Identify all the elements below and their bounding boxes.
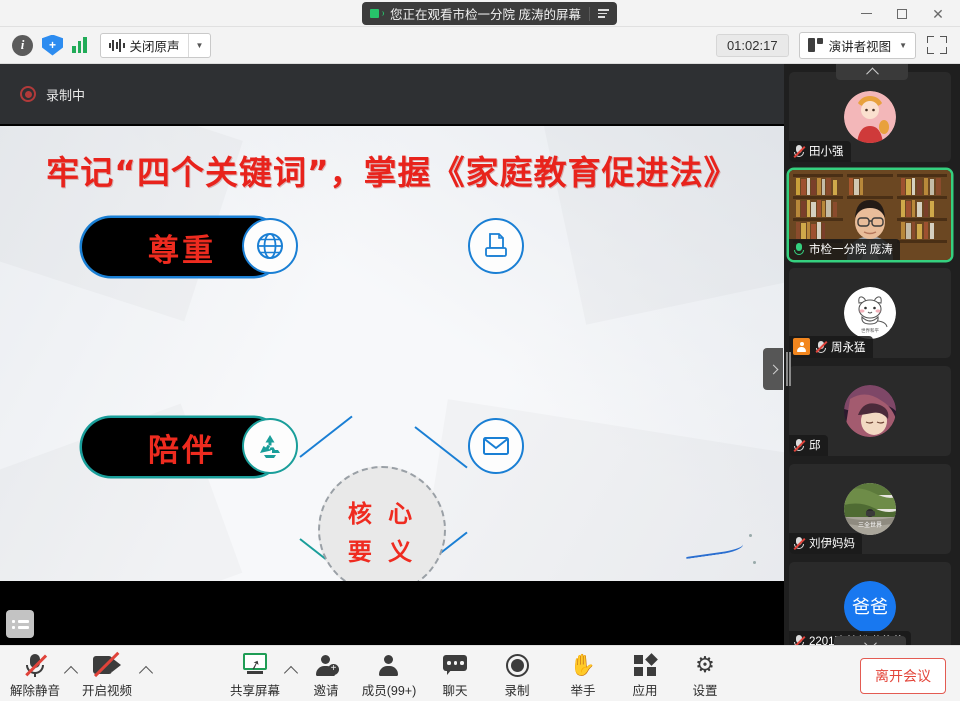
shield-security-icon[interactable]: + [42, 35, 63, 56]
speaker-view-icon [808, 38, 823, 52]
tool-label: 共享屏幕 [230, 680, 280, 699]
chat-icon [443, 652, 467, 678]
connector-line [299, 416, 352, 458]
toolbar-right-group: 01:02:17 演讲者视图 ▼ [716, 32, 960, 59]
participant-name: 周永猛 [831, 339, 866, 355]
equalizer-icon [109, 39, 125, 52]
collapse-filmstrip-button[interactable] [836, 64, 908, 80]
participant-tile[interactable]: 三全世界 刘伊妈妈 [789, 464, 951, 554]
participant-name-badge: 刘伊妈妈 [789, 533, 862, 554]
participants-icon [378, 652, 400, 678]
chat-button[interactable]: 聊天 [420, 652, 490, 699]
svg-text:世界和平: 世界和平 [861, 327, 879, 334]
node-label: 陪伴 [148, 425, 216, 470]
participant-name: 田小强 [809, 143, 844, 159]
close-button[interactable]: ✕ [920, 0, 956, 27]
tool-label: 应用 [632, 680, 657, 699]
minimize-button[interactable] [848, 0, 884, 27]
start-video-button[interactable]: 开启视频 [72, 652, 142, 699]
settings-gear-icon: ⚙ [695, 652, 715, 678]
maximize-button[interactable] [884, 0, 920, 27]
svg-text:三全世界: 三全世界 [858, 521, 882, 529]
mic-muted-icon [815, 340, 827, 354]
share-screen-icon: ➚ [242, 652, 268, 678]
tool-label: 录制 [504, 680, 529, 699]
participant-tile[interactable]: 世界和平 周永猛 [789, 268, 951, 358]
participants-button[interactable]: 成员(99+) [354, 652, 424, 699]
mic-muted-icon [793, 438, 805, 452]
participant-name-badge: 邱 [789, 435, 828, 456]
mic-active-icon [793, 242, 805, 256]
invite-button[interactable]: + 邀请 [291, 652, 361, 699]
tool-label: 解除静音 [10, 680, 60, 699]
bottom-toolbar: 解除静音 开启视频 ➚ 共享屏幕 + 邀请 [0, 645, 960, 701]
participant-tile[interactable]: 田小强 [789, 72, 951, 162]
avatar [844, 91, 896, 143]
invite-person-icon: + [315, 652, 337, 678]
participant-filmstrip: 田小强 [784, 64, 960, 645]
tool-label: 设置 [692, 680, 717, 699]
center-line-1: 核 心 [348, 494, 416, 529]
svg-text:爸爸: 爸爸 [852, 597, 888, 617]
mic-muted-icon [793, 144, 805, 158]
tool-label: 聊天 [442, 680, 467, 699]
expand-filmstrip-button[interactable] [763, 348, 783, 390]
tool-label: 成员(99+) [362, 680, 417, 699]
recording-label: 录制中 [46, 85, 85, 104]
speaker-icon [370, 8, 384, 19]
mic-muted-icon [793, 536, 805, 550]
participant-tile-active[interactable]: 市检一分院 庞涛 [789, 170, 951, 260]
participant-name-badge: 田小强 [789, 141, 851, 162]
participant-tile[interactable]: 爸爸 2201班杜松琳爸爸 [789, 562, 951, 645]
leave-meeting-button[interactable]: 离开会议 [860, 658, 946, 694]
original-sound-label: 关闭原声 [130, 36, 180, 55]
participant-name: 刘伊妈妈 [809, 535, 855, 551]
tool-label: 开启视频 [82, 680, 132, 699]
globe-icon [242, 218, 298, 274]
fullscreen-icon[interactable] [926, 34, 948, 56]
settings-button[interactable]: ⚙ 设置 [670, 652, 740, 699]
record-button[interactable]: 录制 [482, 652, 552, 699]
original-sound-button[interactable]: 关闭原声 ▼ [100, 33, 212, 58]
view-mode-button[interactable]: 演讲者视图 ▼ [799, 32, 916, 59]
raise-hand-icon: ✋ [570, 652, 596, 678]
info-icon[interactable]: i [12, 35, 33, 56]
annotation-dot [749, 534, 752, 537]
annotation-dot [753, 561, 756, 564]
hamburger-menu-icon[interactable] [598, 9, 609, 18]
mic-muted-icon [24, 652, 46, 678]
envelope-icon [468, 418, 524, 474]
chevron-down-icon: ▼ [899, 41, 907, 50]
record-icon [20, 86, 36, 102]
share-notice-text: 您正在观看市检一分院 庞涛的屏幕 [390, 4, 581, 23]
toolbar-left-group: i + 关闭原声 ▼ [0, 33, 211, 58]
divider [589, 7, 590, 21]
node-label: 尊重 [148, 225, 216, 270]
meeting-timer: 01:02:17 [716, 34, 789, 57]
camera-off-icon [93, 652, 121, 678]
center-core-circle: 核 心 要 义 [318, 466, 446, 581]
avatar: 爸爸 [844, 581, 896, 633]
chevron-down-icon[interactable]: ▼ [189, 41, 211, 50]
record-icon [506, 652, 529, 678]
notes-panel-button[interactable] [6, 610, 34, 638]
unmute-button[interactable]: 解除静音 [0, 652, 70, 699]
mic-muted-icon [793, 634, 805, 645]
chevron-down-icon [864, 636, 877, 645]
bg-polygon [417, 399, 784, 581]
avatar [844, 385, 896, 437]
center-line-2: 要 义 [348, 532, 416, 567]
raise-hand-button[interactable]: ✋ 举手 [548, 652, 618, 699]
zoom-meeting-window: 您正在观看市检一分院 庞涛的屏幕 ✕ i + 关闭原声 ▼ [0, 0, 960, 701]
recording-indicator-bar: 录制中 [0, 64, 784, 124]
participant-name-badge: 周永猛 [789, 336, 873, 358]
scroll-down-button[interactable] [834, 636, 906, 645]
apps-icon [634, 652, 656, 678]
shared-screen-stage: 录制中 牢记“四个关键词”，掌握《家庭教育促进法》 尊重 [0, 64, 784, 645]
share-screen-button[interactable]: ➚ 共享屏幕 [220, 652, 290, 699]
slide-title: 牢记“四个关键词”，掌握《家庭教育促进法》 [0, 146, 784, 194]
recycle-icon [242, 418, 298, 474]
tool-label: 邀请 [313, 680, 338, 699]
participant-name: 邱 [809, 437, 821, 453]
meeting-toolbar: i + 关闭原声 ▼ 01:02:17 演讲者视图 ▼ [0, 27, 960, 64]
avatar: 世界和平 [844, 287, 896, 339]
window-controls: ✕ [848, 0, 956, 27]
document-print-icon [468, 218, 524, 274]
avatar: 三全世界 [844, 483, 896, 535]
minimize-icon [861, 13, 872, 15]
participant-tile[interactable]: 邱 [789, 366, 951, 456]
maximize-icon [897, 9, 907, 19]
chevron-up-icon [866, 67, 879, 80]
host-badge-icon [793, 338, 810, 355]
tool-label: 举手 [570, 680, 595, 699]
participant-name-badge: 市检一分院 庞涛 [789, 239, 900, 260]
filmstrip-resize-handle[interactable] [786, 352, 790, 386]
screen-share-notice: 您正在观看市检一分院 庞涛的屏幕 [362, 2, 617, 25]
network-signal-icon[interactable] [72, 37, 87, 53]
close-icon: ✕ [932, 7, 944, 21]
title-bar: 您正在观看市检一分院 庞涛的屏幕 ✕ [0, 0, 960, 27]
participant-name: 市检一分院 庞涛 [809, 241, 893, 257]
presentation-slide: 牢记“四个关键词”，掌握《家庭教育促进法》 尊重 [0, 126, 784, 581]
view-mode-label: 演讲者视图 [829, 36, 892, 55]
